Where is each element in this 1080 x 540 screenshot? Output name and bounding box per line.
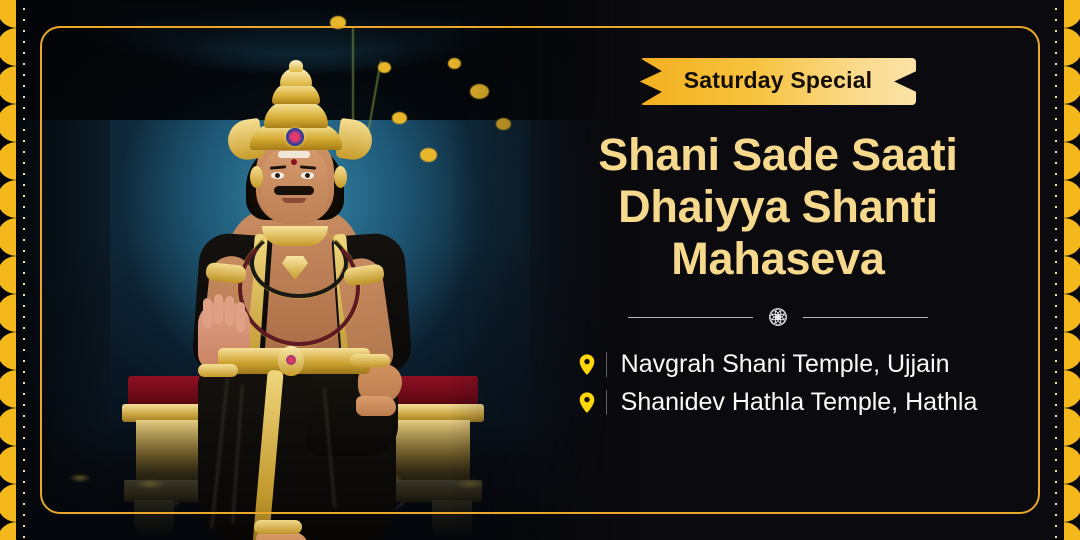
- finger: [203, 298, 212, 328]
- divider-bar: [606, 352, 607, 377]
- crown-jewel: [286, 128, 304, 146]
- title-line-2: Dhaiyya Shanti: [598, 181, 957, 233]
- necklace-long: [238, 230, 360, 346]
- dotted-line-left: [22, 0, 26, 540]
- saturday-special-badge: Saturday Special: [640, 58, 917, 105]
- location-list: Navgrah Shani Temple, Ujjain Shanidev Ha…: [579, 350, 978, 417]
- mustache: [274, 186, 314, 195]
- eye: [301, 172, 314, 179]
- finger: [225, 296, 234, 326]
- map-pin-icon: [579, 392, 595, 413]
- title-line-3: Mahaseva: [598, 233, 957, 285]
- belt-jewel: [278, 346, 304, 376]
- poster: Saturday Special Shani Sade Saati Dhaiyy…: [0, 0, 1080, 540]
- finger: [236, 302, 245, 332]
- location-name: Shanidev Hathla Temple, Hathla: [621, 388, 978, 417]
- rosette-flower-icon: [767, 306, 789, 328]
- list-item: Shanidev Hathla Temple, Hathla: [579, 388, 978, 417]
- divider-bar: [606, 390, 607, 415]
- eye: [271, 172, 284, 179]
- page-title: Shani Sade Saati Dhaiyya Shanti Mahaseva: [598, 129, 957, 284]
- wrist-bangle: [198, 364, 238, 377]
- foot: [356, 396, 396, 416]
- wrist-bangle: [350, 354, 390, 367]
- map-pin-icon: [579, 354, 595, 375]
- badge-label: Saturday Special: [684, 67, 873, 94]
- divider-line-right: [803, 317, 928, 318]
- earring-left: [250, 166, 263, 188]
- earring-right: [334, 166, 347, 188]
- content-column: Saturday Special Shani Sade Saati Dhaiyy…: [508, 0, 1048, 540]
- crown-finial: [289, 60, 303, 72]
- location-name: Navgrah Shani Temple, Ujjain: [621, 350, 950, 379]
- dotted-line-right: [1054, 0, 1058, 540]
- ornamental-divider: [628, 306, 928, 328]
- list-item: Navgrah Shani Temple, Ujjain: [579, 350, 950, 379]
- tilak-mark: [278, 151, 310, 158]
- anklet: [254, 520, 302, 534]
- crown-side-wing: [335, 118, 374, 162]
- marigold-icon: [330, 16, 346, 29]
- crown-tier: [264, 100, 328, 128]
- bindi: [291, 159, 297, 165]
- title-line-1: Shani Sade Saati: [598, 129, 957, 181]
- finger: [214, 294, 223, 324]
- mouth: [282, 198, 306, 203]
- neck-collar: [262, 226, 328, 246]
- divider-line-left: [628, 317, 753, 318]
